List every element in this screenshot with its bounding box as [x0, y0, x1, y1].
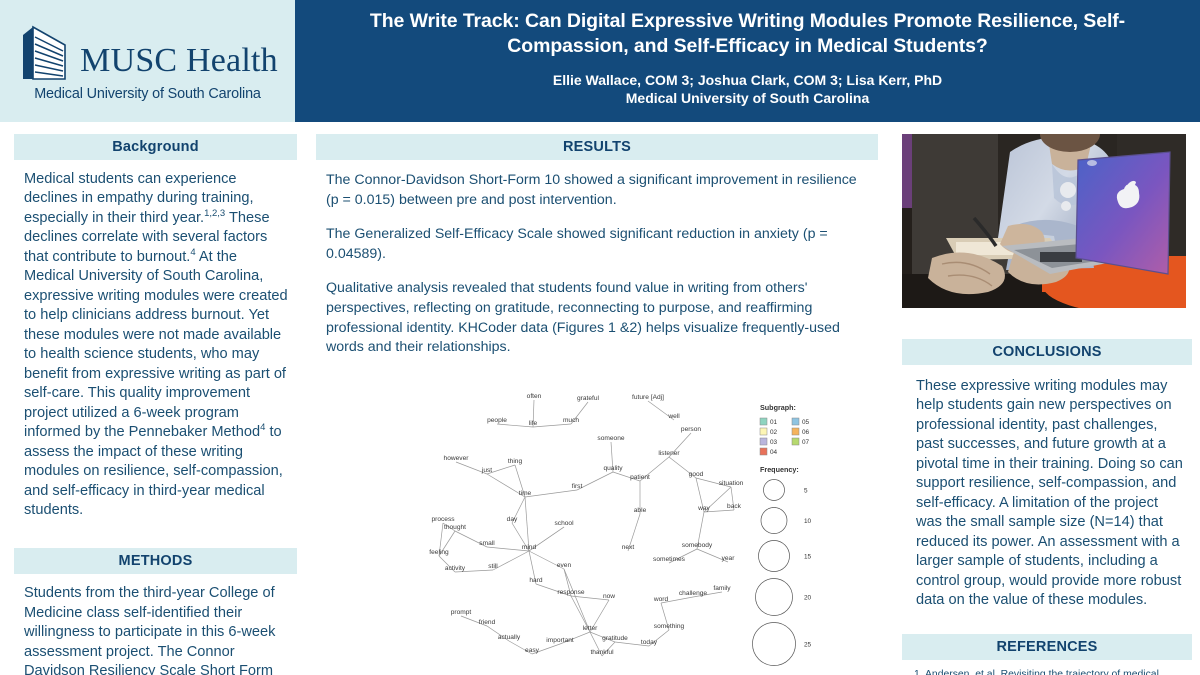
- legend-text: 05: [802, 419, 810, 426]
- network-node-label: something: [654, 623, 685, 630]
- legend-frequency-circle: [753, 622, 796, 665]
- figure-1: oftengratefulfuture [Adj]wellmuchlifepeo…: [316, 374, 878, 675]
- background-heading: Background: [14, 134, 297, 160]
- methods-clip: Students from the third-year College of …: [14, 574, 297, 675]
- network-node-label: grateful: [577, 395, 600, 402]
- network-nodes: oftengratefulfuture [Adj]wellmuchlifepeo…: [429, 393, 743, 656]
- legend-swatch: [792, 438, 799, 445]
- network-edge: [564, 569, 590, 632]
- legend-swatch: [760, 428, 767, 435]
- network-node-label: someone: [597, 435, 624, 442]
- word-network-graph: oftengratefulfuture [Adj]wellmuchlifepeo…: [316, 374, 878, 675]
- affiliation: Medical University of South Carolina: [311, 89, 1184, 107]
- network-node-label: process: [431, 516, 455, 523]
- network-node-label: feeling: [429, 549, 449, 556]
- network-edge: [533, 424, 571, 427]
- legend-frequency-circle: [761, 507, 787, 533]
- network-node-label: thankful: [590, 649, 614, 656]
- network-node-label: important: [546, 637, 574, 644]
- legend-text: 03: [770, 439, 778, 446]
- network-node-label: much: [563, 417, 579, 424]
- network-node-label: day: [507, 516, 518, 523]
- network-node-label: next: [622, 544, 635, 551]
- conclusions-section: CONCLUSIONS These expressive writing mod…: [902, 339, 1192, 611]
- results-paragraph-3: Qualitative analysis revealed that stude…: [326, 279, 870, 357]
- network-node-label: good: [689, 471, 704, 478]
- network-node-label: thought: [444, 524, 466, 531]
- network-node-label: even: [557, 562, 572, 569]
- network-node-label: quality: [603, 465, 623, 472]
- page-title: The Write Track: Can Digital Expressive …: [311, 9, 1184, 58]
- network-node-label: friend: [479, 619, 496, 626]
- network-node-label: word: [653, 596, 669, 603]
- methods-body: Students from the third-year College of …: [14, 574, 297, 675]
- network-node-label: easy: [525, 647, 540, 654]
- legend-text: 15: [804, 553, 812, 560]
- network-node-label: time: [519, 490, 532, 497]
- right-column: CONCLUSIONS These expressive writing mod…: [902, 134, 1192, 675]
- network-node-label: back: [727, 503, 742, 510]
- network-node-label: way: [697, 505, 710, 512]
- network-node-label: well: [667, 413, 680, 420]
- logo-wordmark: MUSC Health: [80, 44, 278, 81]
- conclusions-body: These expressive writing modules may hel…: [902, 365, 1192, 611]
- network-node-label: challenge: [679, 590, 708, 597]
- network-node-label: response: [557, 589, 584, 596]
- legend-text: Frequency:: [760, 465, 799, 474]
- network-node-label: now: [603, 593, 615, 600]
- network-node-label: life: [529, 420, 538, 427]
- legend-text: 02: [770, 429, 778, 436]
- background-text-3: At the Medical University of South Carol…: [24, 249, 288, 440]
- network-node-label: just: [481, 467, 492, 474]
- network-edge: [525, 490, 577, 497]
- network-node-label: prompt: [451, 609, 472, 616]
- network-node-label: small: [479, 540, 495, 547]
- author-list: Ellie Wallace, COM 3; Joshua Clark, COM …: [311, 71, 1184, 89]
- network-edge: [525, 497, 529, 551]
- legend-swatch: [792, 428, 799, 435]
- results-paragraph-2: The Generalized Self-Efficacy Scale show…: [326, 225, 870, 264]
- legend-frequency-circle: [756, 578, 793, 615]
- results-body: The Connor-Davidson Short-Form 10 showed…: [316, 160, 878, 358]
- results-heading: RESULTS: [316, 134, 878, 160]
- network-legend: Subgraph:01020304050607Frequency:5101520…: [753, 403, 812, 666]
- network-node-label: mind: [522, 544, 537, 551]
- network-node-label: first: [572, 483, 583, 490]
- photo-writing-with-laptop: [902, 134, 1192, 318]
- logo-tagline: Medical University of South Carolina: [34, 86, 261, 102]
- network-node-label: thing: [508, 458, 523, 465]
- middle-column: RESULTS The Connor-Davidson Short-Form 1…: [316, 134, 878, 675]
- network-node-label: family: [713, 585, 731, 592]
- network-node-label: hard: [529, 577, 543, 584]
- logo-band: MUSC Health Medical University of South …: [0, 0, 295, 122]
- network-edges: [439, 400, 734, 656]
- legend-text: 20: [804, 594, 812, 601]
- network-edge: [497, 424, 533, 427]
- legend-text: 07: [802, 439, 810, 446]
- network-node-label: activity: [445, 565, 466, 572]
- methods-section: METHODS Students from the third-year Col…: [14, 548, 297, 675]
- building-icon: [17, 21, 73, 81]
- legend-swatch: [760, 418, 767, 425]
- conclusions-heading: CONCLUSIONS: [902, 339, 1192, 365]
- background-body: Medical students can experience declines…: [14, 160, 297, 520]
- network-node-label: listener: [658, 450, 680, 457]
- network-node-label: school: [554, 520, 574, 527]
- legend-text: 06: [802, 429, 810, 436]
- network-node-label: letter: [583, 625, 598, 632]
- reference-item-1: 1. Andersen, et al. Revisiting the traje…: [902, 660, 1192, 675]
- network-node-label: actually: [498, 634, 521, 641]
- network-node-label: year: [722, 555, 736, 562]
- results-section: RESULTS The Connor-Davidson Short-Form 1…: [316, 134, 878, 358]
- legend-swatch: [760, 438, 767, 445]
- left-column: Background Medical students can experien…: [14, 134, 297, 675]
- legend-text: Subgraph:: [760, 403, 796, 412]
- network-node-label: future [Adj]: [632, 394, 664, 401]
- network-node-label: people: [487, 417, 507, 424]
- network-node-label: often: [527, 393, 542, 400]
- photo-illustration: [902, 134, 1192, 318]
- background-ref-1: 1,2,3: [204, 208, 225, 219]
- network-node-label: situation: [719, 480, 744, 487]
- background-section: Background Medical students can experien…: [14, 134, 297, 520]
- legend-swatch: [760, 448, 767, 455]
- legend-swatch: [792, 418, 799, 425]
- musc-logo: MUSC Health Medical University of South …: [14, 21, 282, 102]
- legend-text: 01: [770, 419, 778, 426]
- legend-text: 5: [804, 487, 808, 494]
- network-node-label: gratitude: [602, 635, 628, 642]
- network-node-label: still: [488, 563, 498, 570]
- references-clip: 1. Andersen, et al. Revisiting the traje…: [902, 660, 1192, 675]
- network-node-label: person: [681, 426, 701, 433]
- network-node-label: however: [444, 455, 470, 462]
- legend-text: 10: [804, 518, 812, 525]
- network-node-label: patient: [630, 474, 650, 481]
- legend-frequency-circle: [759, 540, 790, 571]
- network-edge: [577, 472, 613, 490]
- poster-header: The Write Track: Can Digital Expressive …: [295, 0, 1200, 122]
- poster-canvas: MUSC Health Medical University of South …: [0, 0, 1200, 675]
- network-node-label: somebody: [682, 542, 713, 549]
- network-edge: [493, 551, 529, 570]
- legend-frequency-circle: [764, 479, 785, 500]
- network-node-label: sometimes: [653, 556, 686, 563]
- results-paragraph-1: The Connor-Davidson Short-Form 10 showed…: [326, 171, 870, 210]
- methods-heading: METHODS: [14, 548, 297, 574]
- network-node-label: able: [634, 507, 647, 514]
- references-heading: REFERENCES: [902, 634, 1192, 660]
- legend-text: 04: [770, 449, 778, 456]
- references-section: REFERENCES 1. Andersen, et al. Revisitin…: [902, 634, 1192, 675]
- legend-text: 25: [804, 641, 812, 648]
- network-node-label: today: [641, 639, 658, 646]
- column-spacer: [14, 520, 297, 548]
